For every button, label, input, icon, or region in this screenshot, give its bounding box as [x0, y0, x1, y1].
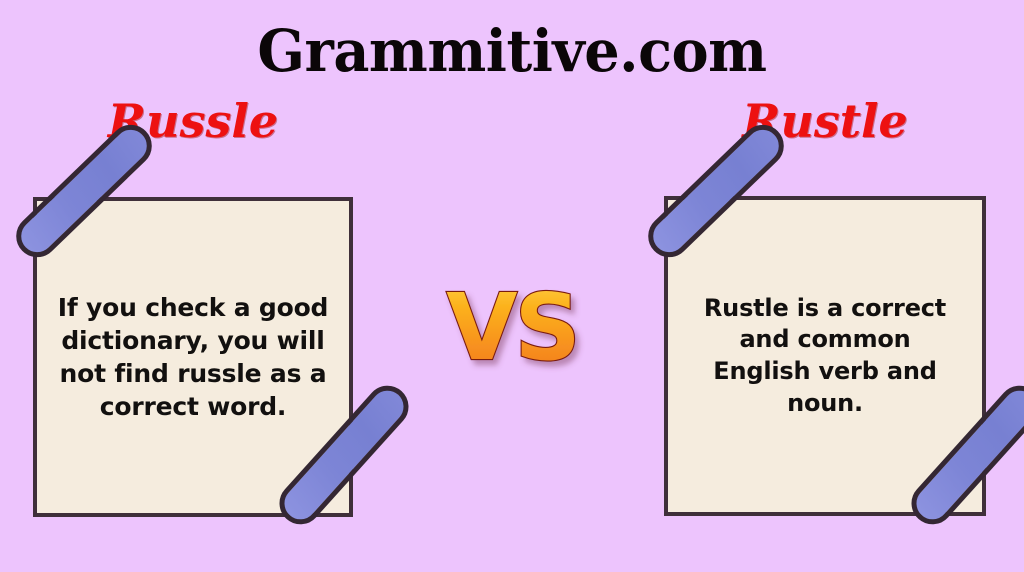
card-right-text: Rustle is a correct and common English v… [668, 293, 982, 420]
heading-left-word: Russle [33, 98, 353, 144]
vs-label: VS [446, 274, 577, 381]
comparison-graphic: Grammitive.com Russle Rustle If you chec… [0, 0, 1024, 572]
heading-right-word: Rustle [664, 98, 986, 144]
site-title: Grammitive.com [20, 22, 1003, 80]
card-left-text: If you check a good dictionary, you will… [37, 291, 349, 423]
vs-divider-badge: VS [441, 275, 583, 385]
